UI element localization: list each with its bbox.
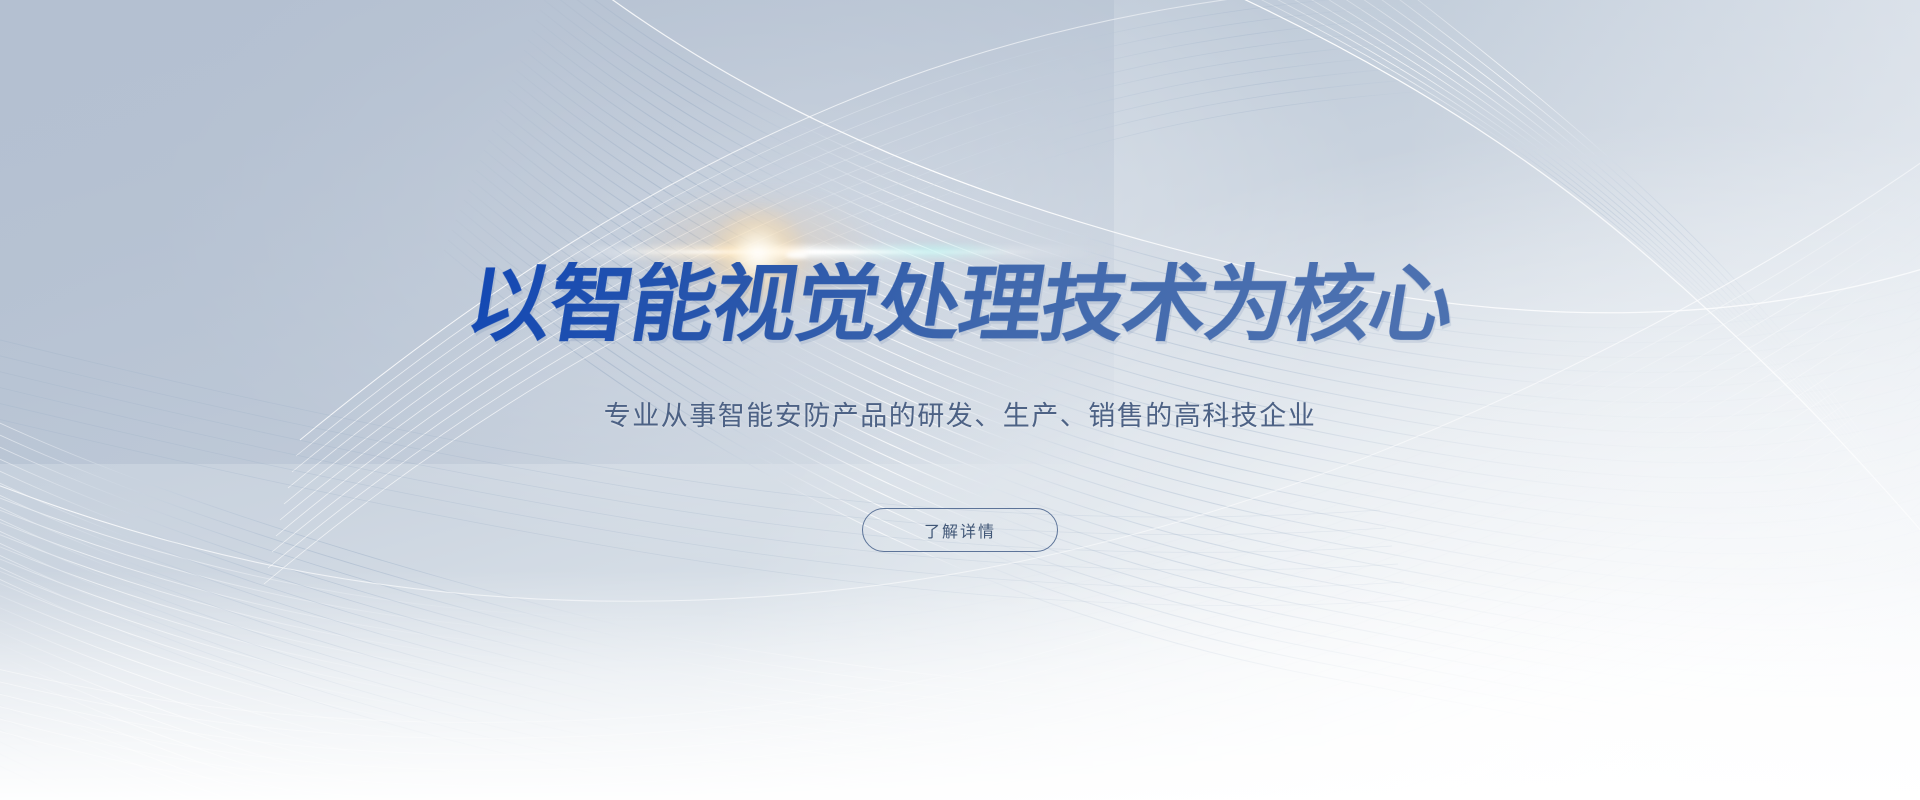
hero-content: 以智能视觉处理技术为核心 专业从事智能安防产品的研发、生产、销售的高科技企业 了… bbox=[0, 0, 1920, 800]
hero-banner: 以智能视觉处理技术为核心 专业从事智能安防产品的研发、生产、销售的高科技企业 了… bbox=[0, 0, 1920, 800]
learn-more-button[interactable]: 了解详情 bbox=[862, 508, 1058, 552]
hero-subtitle: 专业从事智能安防产品的研发、生产、销售的高科技企业 bbox=[0, 398, 1920, 436]
page-title: 以智能视觉处理技术为核心 bbox=[0, 262, 1920, 346]
